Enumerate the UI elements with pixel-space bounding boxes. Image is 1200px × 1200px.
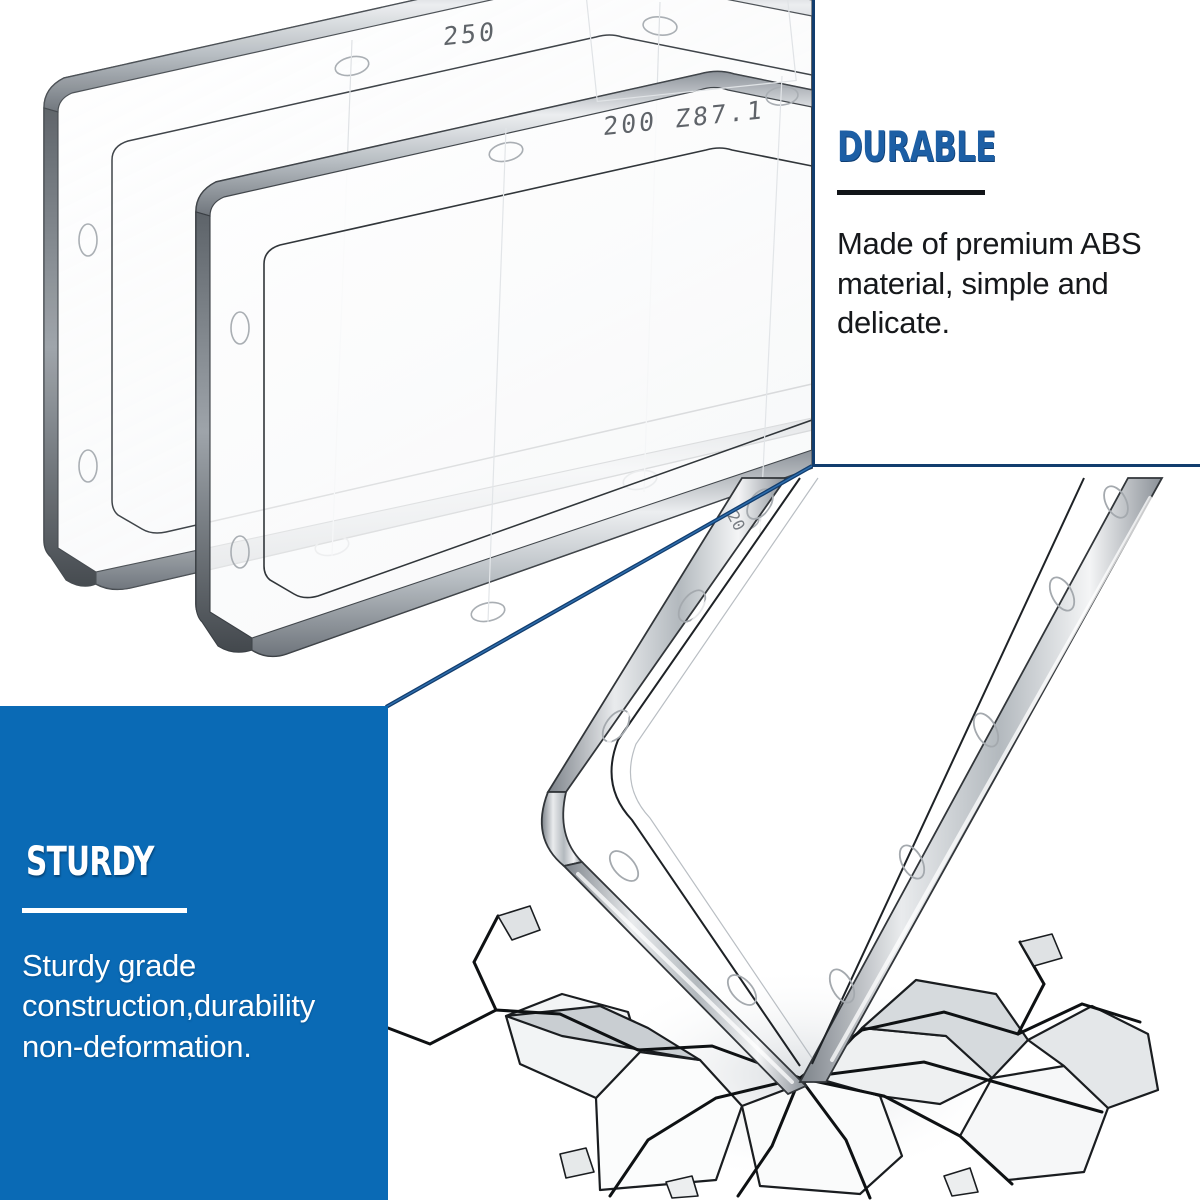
durable-body-text: Made of premium ABS material, simple and… (837, 224, 1167, 343)
sturdy-heading: STURDY (26, 842, 154, 882)
feature-callout-durable: DURABLE Made of premium ABS material, si… (812, 0, 1200, 467)
durable-divider (837, 190, 985, 195)
sturdy-divider (22, 908, 187, 913)
sturdy-body-text: Sturdy grade construction,durability non… (22, 946, 374, 1067)
infographic-canvas: 250 200 Z87.1 20 DURABLE Made of premium… (0, 0, 1200, 1200)
durable-heading: DURABLE (837, 126, 996, 168)
feature-callout-sturdy: STURDY Sturdy grade construction,durabil… (0, 706, 388, 1200)
